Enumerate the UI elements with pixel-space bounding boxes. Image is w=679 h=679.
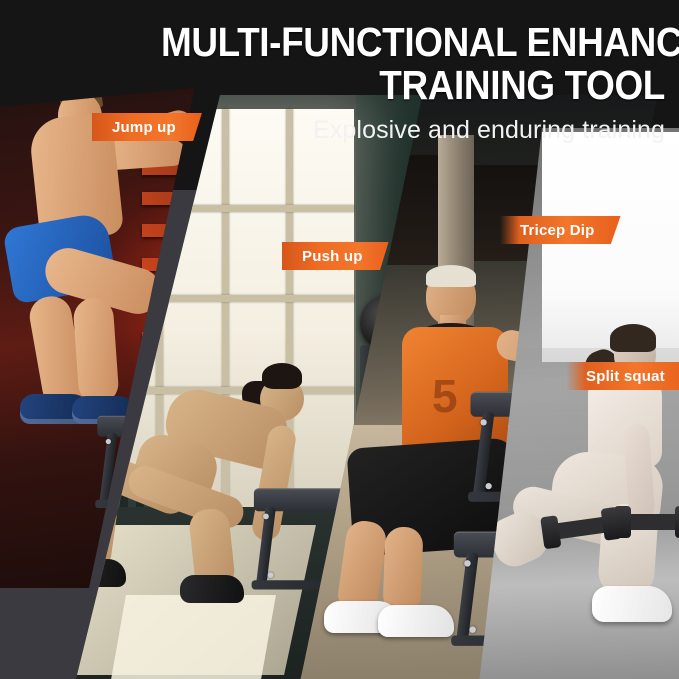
plyo-box-bolt — [268, 572, 274, 578]
plyo-box-bolt — [464, 560, 471, 567]
athlete-shin — [72, 297, 119, 406]
athlete-shin — [383, 526, 424, 613]
athlete-shoe — [378, 605, 454, 637]
athlete-shoe — [592, 586, 672, 622]
athlete-shoe — [180, 575, 244, 603]
plyo-box-bolt — [263, 514, 269, 520]
badge-split-squat: Split squat — [566, 362, 679, 390]
plyo-box-bolt — [486, 483, 492, 489]
athlete-hair — [610, 324, 656, 352]
athlete-hair — [426, 265, 476, 287]
plyo-box-bolt — [469, 626, 476, 633]
plyo-box-bolt — [106, 439, 111, 444]
dumbbell — [626, 514, 679, 530]
athlete-hair-bun — [262, 363, 302, 389]
badge-push-up: Push up — [282, 242, 389, 270]
product-poster: MULTI-FUNCTIONAL ENHANCED TRAINING TOOL … — [0, 0, 679, 679]
badge-jump-up: Jump up — [92, 113, 202, 141]
badge-tricep-dip: Tricep Dip — [500, 216, 621, 244]
plyo-box-bolt — [481, 419, 487, 425]
